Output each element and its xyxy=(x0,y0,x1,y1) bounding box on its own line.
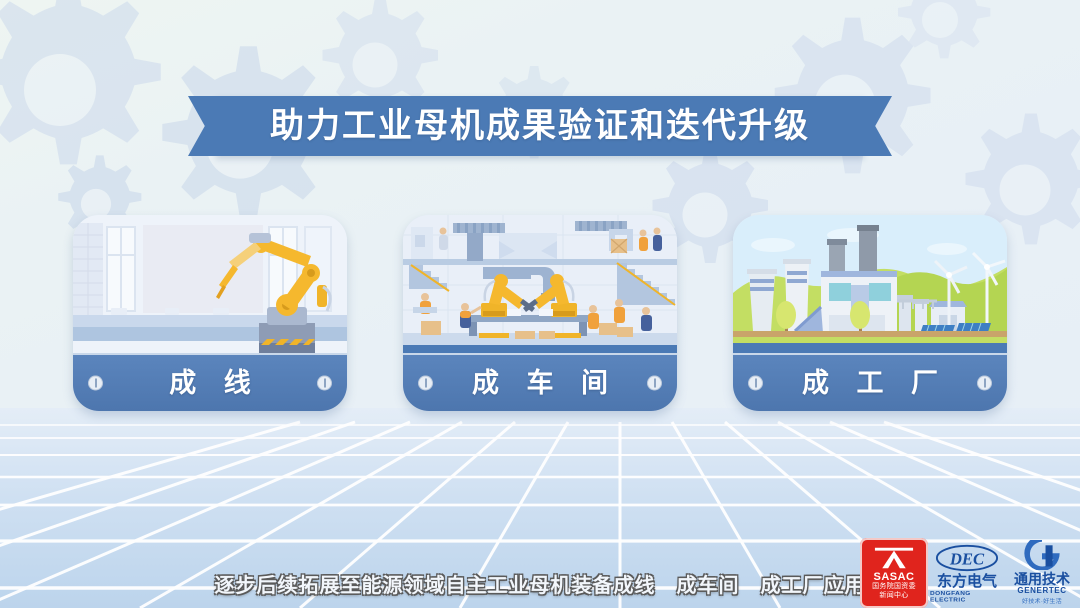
sasac-cn-line1: 国务院国资委 xyxy=(872,583,916,591)
dec-en-text: DONGFANG ELECTRIC xyxy=(930,591,1004,604)
sasac-en-text: SASAC xyxy=(873,571,914,583)
svg-text:DEC: DEC xyxy=(949,549,985,568)
rivet-icon xyxy=(88,376,103,391)
robot-arm-production-line-illustration xyxy=(73,215,347,353)
sasac-mark-icon xyxy=(872,543,916,570)
smart-workshop-interior-illustration xyxy=(403,215,677,353)
card-row: 成 线 xyxy=(0,215,1080,411)
energy-plant-factory-illustration xyxy=(733,215,1007,353)
rivet-icon xyxy=(977,376,992,391)
card-label-bar: 成 车 间 xyxy=(403,353,677,411)
dec-oval-icon: DEC xyxy=(935,543,999,573)
genertec-slogan-text: 好技术·好生活 xyxy=(1022,596,1062,604)
rivet-icon xyxy=(647,376,662,391)
gear-icon xyxy=(880,0,1000,80)
card-label-bar: 成 工 厂 xyxy=(733,353,1007,411)
sasac-cn-line2: 新闻中心 xyxy=(879,592,908,600)
logo-sasac: SASAC 国务院国资委 新闻中心 xyxy=(860,538,928,608)
genertec-en-text: GENERTEC xyxy=(1017,587,1066,596)
card-label-text: 成 线 xyxy=(159,370,261,397)
card-production-line[interactable]: 成 线 xyxy=(73,215,347,411)
dec-cn-text: 东方电气 xyxy=(937,574,997,591)
card-label-text: 成 工 厂 xyxy=(792,370,948,397)
genertec-mark-icon xyxy=(1024,540,1060,570)
page-title: 助力工业母机成果验证和迭代升级 xyxy=(270,109,810,143)
logo-bar: SASAC 国务院国资委 新闻中心 DEC 东方电气 DONGFANG ELEC… xyxy=(860,532,1080,608)
rivet-icon xyxy=(748,376,763,391)
ribbon-shape: 助力工业母机成果验证和迭代升级 xyxy=(216,96,864,156)
rivet-icon xyxy=(317,376,332,391)
title-banner: 助力工业母机成果验证和迭代升级 xyxy=(0,96,1080,156)
rivet-icon xyxy=(418,376,433,391)
card-label-text: 成 车 间 xyxy=(462,370,618,397)
presentation-slide: 助力工业母机成果验证和迭代升级 xyxy=(0,0,1080,608)
card-factory[interactable]: 成 工 厂 xyxy=(733,215,1007,411)
card-label-bar: 成 线 xyxy=(73,353,347,411)
logo-genertec: 通用技术 GENERTEC 好技术·好生活 xyxy=(1004,534,1080,608)
genertec-cn-text: 通用技术 xyxy=(1014,571,1070,587)
card-workshop[interactable]: 成 车 间 xyxy=(403,215,677,411)
logo-dec: DEC 东方电气 DONGFANG ELECTRIC xyxy=(930,534,1004,608)
